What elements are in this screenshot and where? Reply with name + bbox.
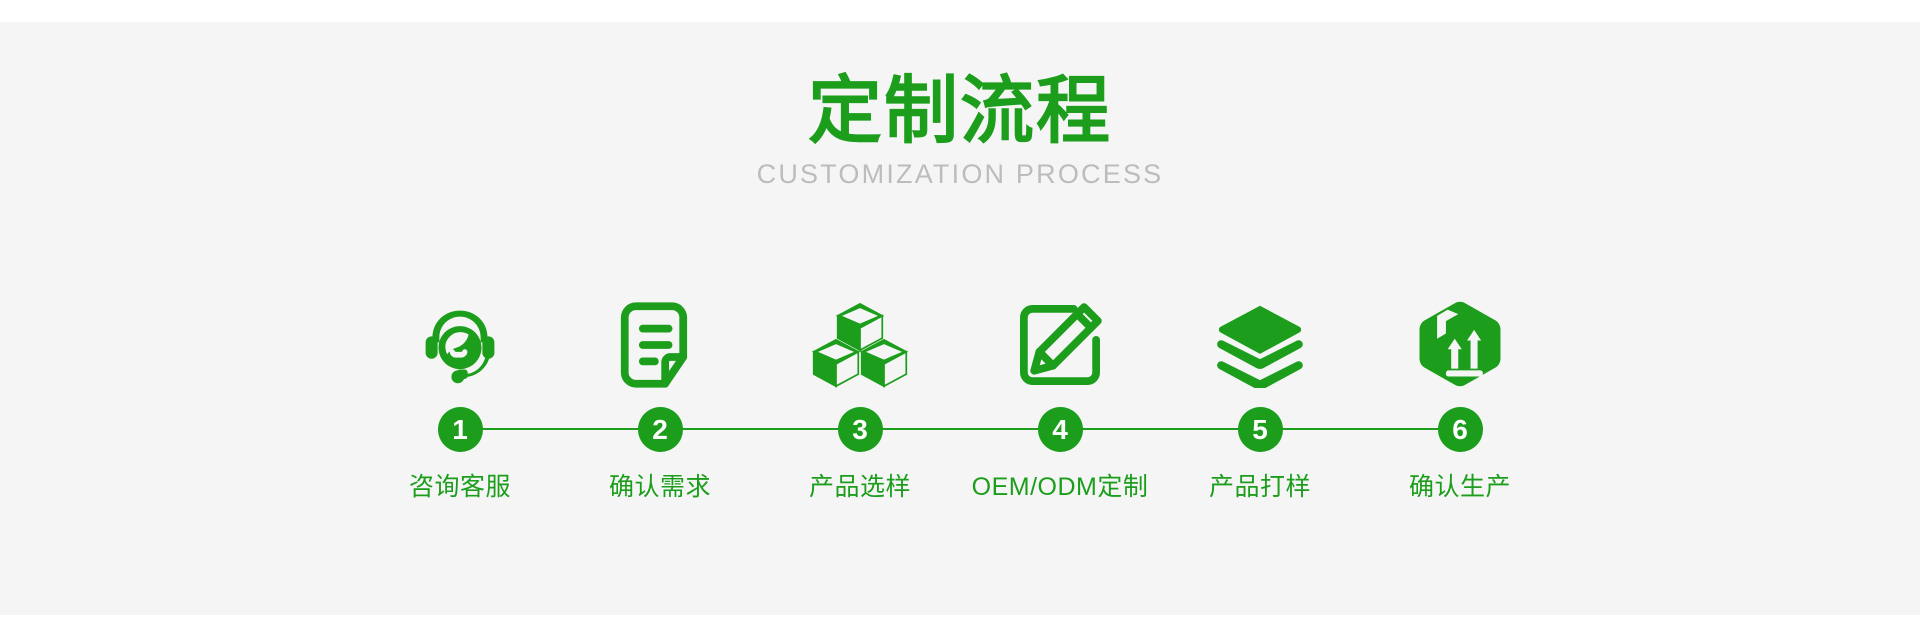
step-6-marker: 6 <box>1360 406 1560 452</box>
step-4-icon-wrap <box>1016 292 1104 388</box>
process-step-4[interactable]: 4 OEM/ODM定制 <box>960 292 1160 502</box>
process-steps-row: 1 咨询客服 <box>360 292 1560 582</box>
step-2-number-badge: 2 <box>638 407 683 452</box>
connector-line-5-to-6 <box>1282 428 1360 430</box>
connector-line-4-to-5 <box>1082 428 1160 430</box>
connector-line-2-to-3-left <box>760 428 838 430</box>
process-step-3[interactable]: 3 产品选样 <box>760 292 960 502</box>
stacked-cubes-icon <box>812 302 908 388</box>
process-step-6[interactable]: 6 确认生产 <box>1360 292 1560 502</box>
step-2-label: 确认需求 <box>609 472 711 502</box>
step-3-number-badge: 3 <box>838 407 883 452</box>
step-4-number-badge: 4 <box>1038 407 1083 452</box>
step-4-marker: 4 <box>960 406 1160 452</box>
step-6-icon-wrap <box>1415 292 1505 388</box>
layers-stack-icon <box>1214 304 1306 388</box>
connector-line-1-to-2 <box>482 428 560 430</box>
section-heading: 定制流程 CUSTOMIZATION PROCESS <box>0 70 1920 190</box>
pencil-square-edit-icon <box>1016 302 1104 388</box>
step-3-icon-wrap <box>812 292 908 388</box>
step-5-label: 产品打样 <box>1209 472 1311 502</box>
step-2-icon-wrap <box>620 292 700 388</box>
customization-process-section: 定制流程 CUSTOMIZATION PROCESS <box>0 22 1920 615</box>
step-4-label: OEM/ODM定制 <box>972 472 1149 502</box>
step-1-icon-wrap <box>417 292 503 388</box>
connector-line-3-to-4-left <box>960 428 1038 430</box>
connector-line-1-to-2-left <box>560 428 638 430</box>
process-step-2[interactable]: 2 确认需求 <box>560 292 760 502</box>
step-5-marker: 5 <box>1160 406 1360 452</box>
shipping-box-arrows-icon <box>1415 300 1505 388</box>
step-5-number-badge: 5 <box>1238 407 1283 452</box>
headset-operator-icon <box>417 302 503 388</box>
connector-line-2-to-3 <box>682 428 760 430</box>
step-1-label: 咨询客服 <box>409 472 511 502</box>
connector-line-5-to-6-left <box>1360 428 1438 430</box>
step-2-marker: 2 <box>560 406 760 452</box>
process-step-1[interactable]: 1 咨询客服 <box>360 292 560 502</box>
connector-line-3-to-4 <box>882 428 960 430</box>
step-3-marker: 3 <box>760 406 960 452</box>
process-step-5[interactable]: 5 产品打样 <box>1160 292 1360 502</box>
step-1-marker: 1 <box>360 406 560 452</box>
connector-line-4-to-5-left <box>1160 428 1238 430</box>
step-5-icon-wrap <box>1214 292 1306 388</box>
step-3-label: 产品选样 <box>809 472 911 502</box>
step-1-number-badge: 1 <box>438 407 483 452</box>
step-6-label: 确认生产 <box>1409 472 1511 502</box>
page-title: 定制流程 <box>0 70 1920 152</box>
page-subtitle: CUSTOMIZATION PROCESS <box>0 158 1920 190</box>
document-lines-icon <box>620 302 700 388</box>
step-6-number-badge: 6 <box>1438 407 1483 452</box>
